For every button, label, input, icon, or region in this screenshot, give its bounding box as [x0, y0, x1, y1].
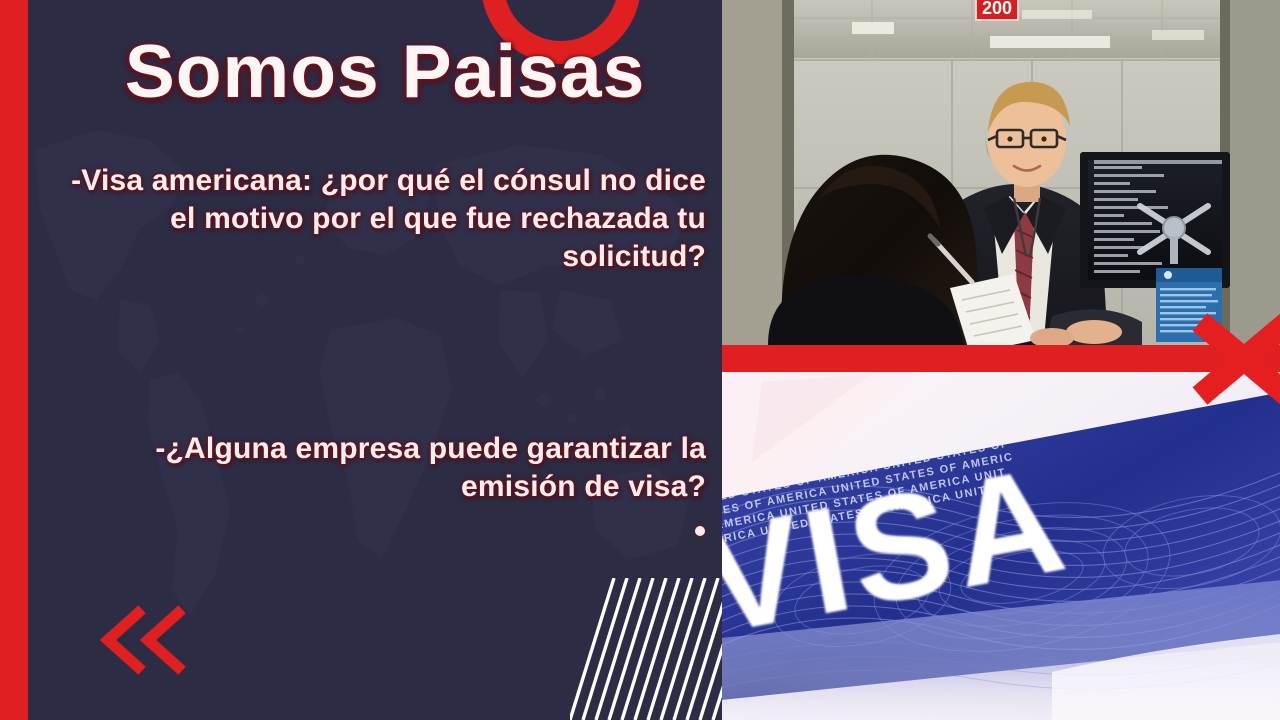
consular-interview-photo: 200: [722, 0, 1280, 345]
red-vertical-bar: [0, 0, 28, 720]
diagonal-stripes-pattern: [570, 578, 722, 720]
question-text-1: -Visa americana: ¿por qué el cónsul no d…: [46, 162, 706, 276]
svg-text:200: 200: [982, 0, 1012, 18]
left-content-panel: Somos Paisas -Visa americana: ¿por qué e…: [0, 0, 722, 720]
trailing-dot: [695, 526, 705, 536]
page-title: Somos Paisas: [40, 34, 722, 109]
us-visa-closeup-photo: UNITED STATES OF AMERICA UNITED STATES O…: [722, 372, 1280, 720]
slide-canvas: Somos Paisas -Visa americana: ¿por qué e…: [0, 0, 1280, 720]
double-chevron-left-icon[interactable]: [100, 605, 186, 675]
red-x-mark-icon: [1192, 312, 1280, 404]
question-text-2: -¿Alguna empresa puede garantizar la emi…: [106, 430, 706, 506]
